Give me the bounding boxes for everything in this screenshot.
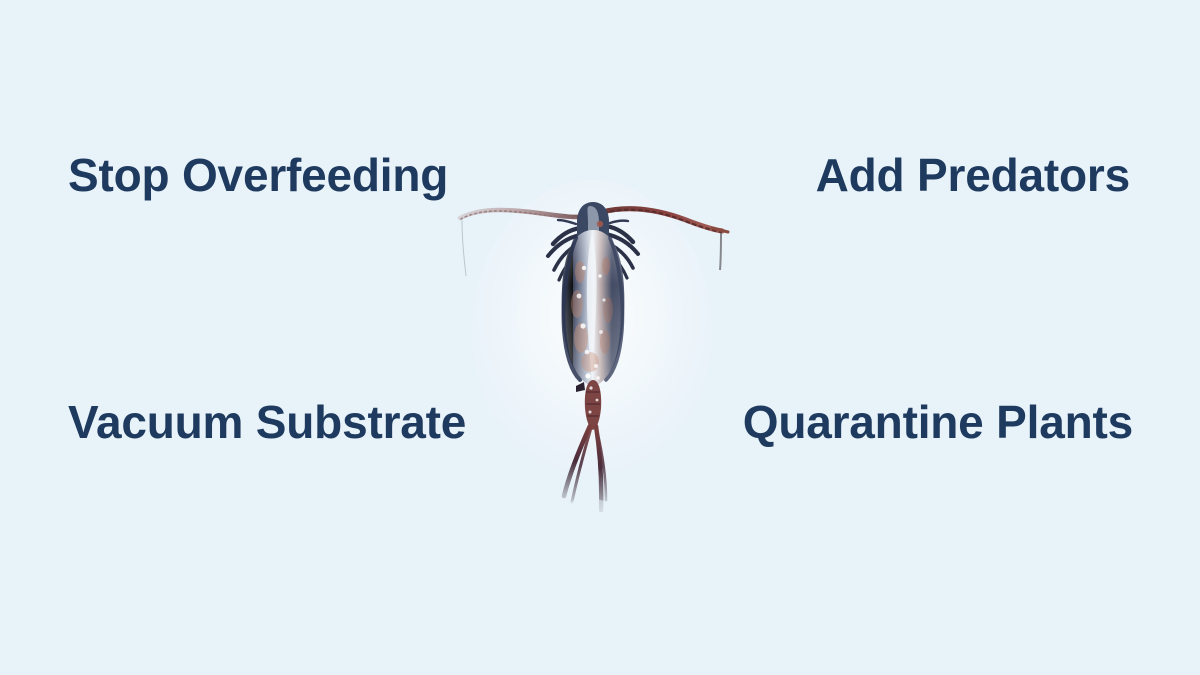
antenna-left-terminal-hair (462, 220, 466, 276)
antenna-right-terminal-hair (720, 233, 721, 270)
label-stop-overfeeding: Stop Overfeeding (68, 152, 448, 198)
copepod-photo (440, 180, 760, 540)
label-quarantine-plants: Quarantine Plants (743, 399, 1133, 445)
eye-spot (597, 221, 603, 227)
slide-canvas: Stop Overfeeding Add Predators Vacuum Su… (0, 0, 1200, 675)
label-vacuum-substrate: Vacuum Substrate (68, 399, 466, 445)
tail-fade-shadow (562, 498, 614, 526)
label-add-predators: Add Predators (816, 152, 1130, 198)
